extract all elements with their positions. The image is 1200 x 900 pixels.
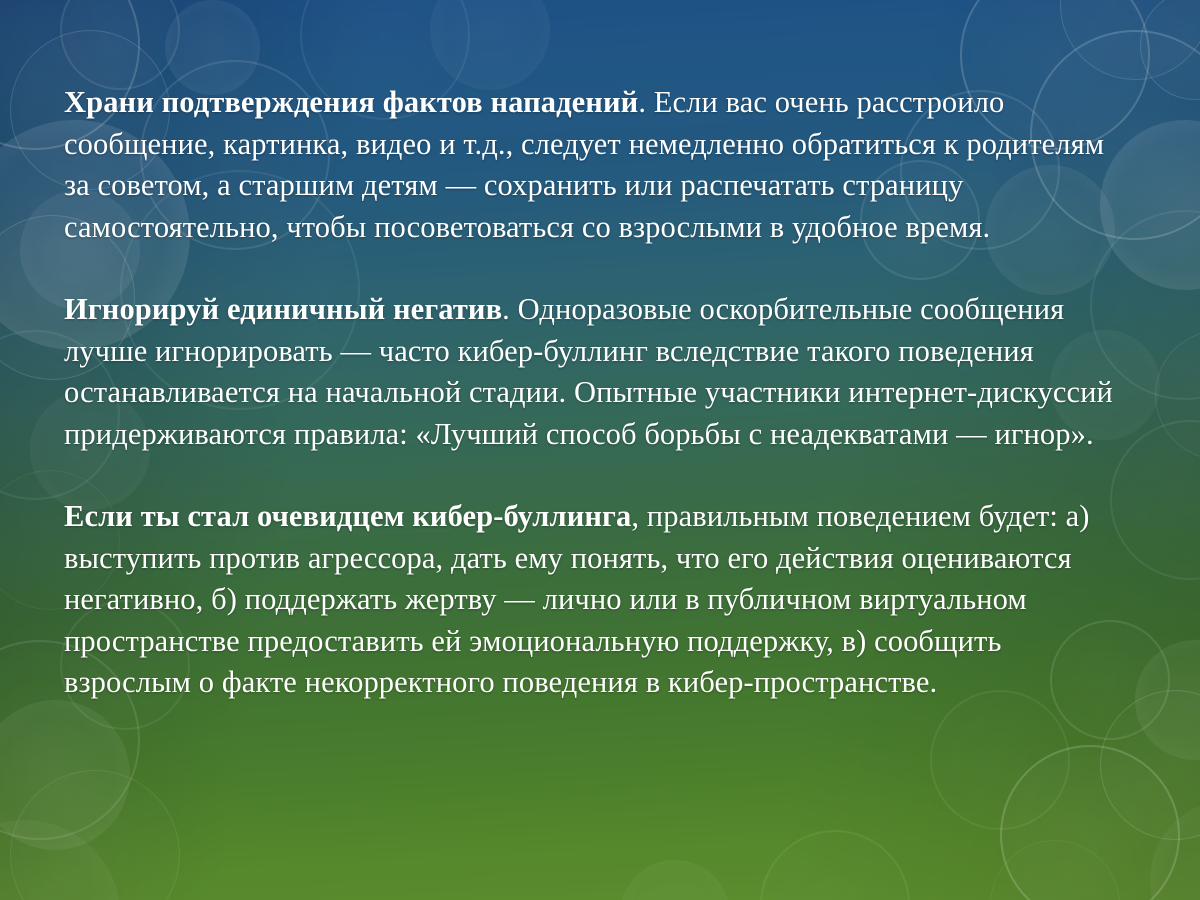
bokeh-circle xyxy=(0,820,120,900)
bokeh-circle xyxy=(0,700,130,850)
paragraph: Если ты стал очевидцем кибер-буллинга, п… xyxy=(64,496,1136,704)
bokeh-circle xyxy=(1000,745,1180,900)
bokeh-circle xyxy=(620,860,730,900)
bokeh-circle xyxy=(430,0,550,90)
paragraph-lead: Игнорируй единичный негатив xyxy=(64,292,502,326)
bokeh-circle xyxy=(1150,800,1200,900)
presentation-slide: Храни подтверждения фактов нападений. Ес… xyxy=(0,0,1200,900)
bokeh-circle xyxy=(990,840,1120,900)
paragraph: Храни подтверждения фактов нападений. Ес… xyxy=(64,82,1136,248)
paragraph: Игнорируй единичный негатив. Одноразовые… xyxy=(64,289,1136,455)
bokeh-circle xyxy=(1140,0,1200,100)
bokeh-circle xyxy=(60,0,180,90)
bokeh-circle xyxy=(1060,0,1200,80)
bokeh-circle xyxy=(930,690,1070,830)
bokeh-circle xyxy=(1155,330,1200,460)
bokeh-circle xyxy=(760,830,910,900)
paragraph-lead: Храни подтверждения фактов нападений xyxy=(64,85,638,119)
bokeh-circle xyxy=(1100,690,1200,840)
paragraph-lead: Если ты стал очевидцем кибер-буллинга xyxy=(64,499,631,533)
slide-body: Храни подтверждения фактов нападений. Ес… xyxy=(64,82,1136,704)
bokeh-circle xyxy=(10,770,180,900)
bokeh-circle xyxy=(1135,640,1200,760)
bokeh-circle xyxy=(165,0,260,95)
